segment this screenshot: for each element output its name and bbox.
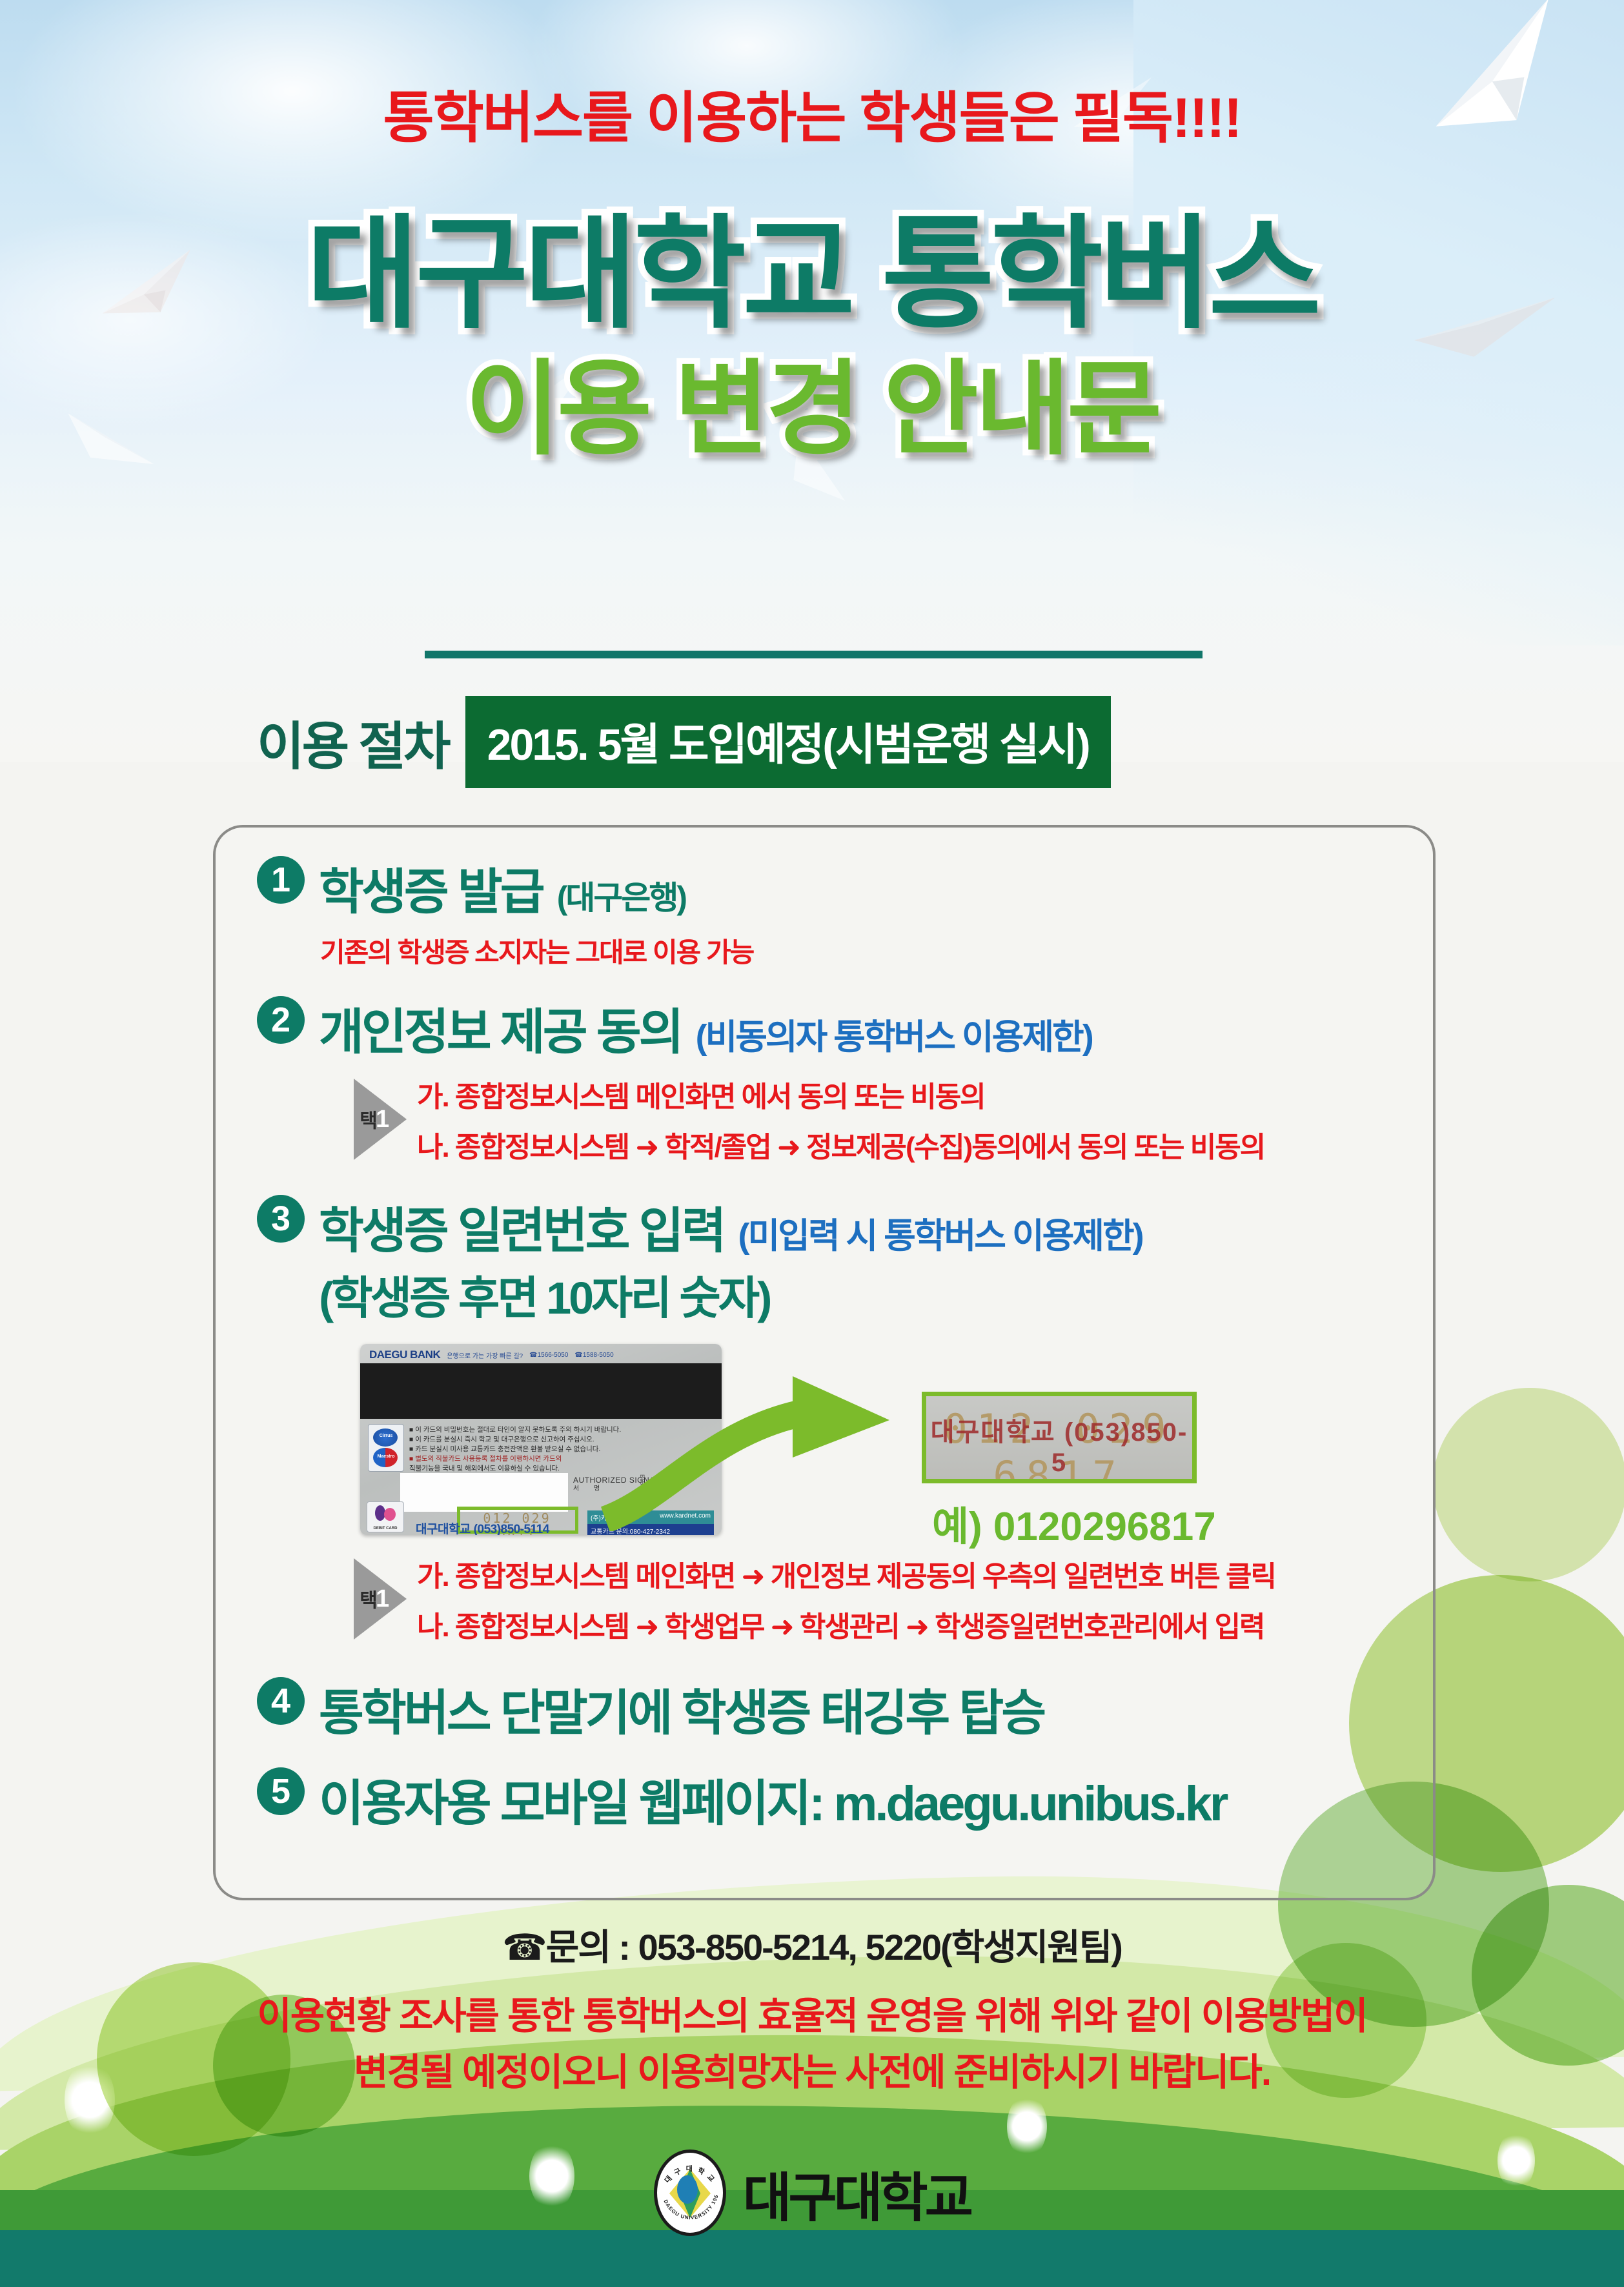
procedure-header: 이용 절차 2015. 5월 도입예정(시범운행 실시) (257, 696, 1111, 788)
footer-notice: 이용현황 조사를 통한 통학버스의 효율적 운영을 위해 위와 같이 이용방법이… (0, 1988, 1624, 2100)
steps-list: 1 학생증 발급 (대구은행) 기존의 학생증 소지자는 그대로 이용 가능 2… (257, 852, 1419, 1841)
cirrus-label: Cirrus (369, 1434, 403, 1438)
choose-option: 나. 종합정보시스템 ➜ 학적/졸업 ➜ 정보제공(수집)동의에서 동의 또는 … (417, 1124, 1264, 1165)
bank-phone-1: ☎1566-5050 (529, 1352, 568, 1359)
step-subtitle: (학생증 후면 10자리 숫자) (319, 1262, 1419, 1327)
step-1: 1 학생증 발급 (대구은행) 기존의 학생증 소지자는 그대로 이용 가능 (257, 852, 1419, 970)
university-seal-icon: 대 구 대 학 교 DAEGU UNIVERSITY 1956 (654, 2150, 726, 2236)
step-note: (대구은행) (557, 872, 685, 919)
bank-tagline: 은행으로 가는 가장 빠른 길? (447, 1350, 523, 1360)
step-note: (미입력 시 통학버스 이용제한) (738, 1207, 1142, 1258)
signature-panel (400, 1473, 568, 1512)
step-title: 통학버스 단말기에 학생증 태깅후 탑승 (319, 1673, 1044, 1744)
choose-one-group: 택 1 가. 종합정보시스템 메인화면 ➜ 개인정보 제공동의 우측의 일련번호… (354, 1553, 1419, 1645)
university-name: 대구대학교 (743, 2155, 970, 2231)
step-3: 3 학생증 일련번호 입력 (미입력 시 통학버스 이용제한) (학생증 후면 … (257, 1191, 1419, 1645)
poster-root: 통학버스를 이용하는 학생들은 필독!!!! 대구대학교 통학버스 이용 변경 … (0, 0, 1624, 2287)
page-title: 대구대학교 통학버스 이용 변경 안내문 (0, 213, 1624, 461)
watercolor-blob (1433, 1388, 1624, 1581)
serial-zoom-callout: 012 029 6817 대구대학교 (053)850-5 (922, 1392, 1197, 1483)
step-4: 4 통학버스 단말기에 학생증 태깅후 탑승 (257, 1673, 1419, 1744)
seal-bottom-text: DAEGU UNIVERSITY 1956 (654, 2150, 720, 2221)
choose-one-group: 택 1 가. 종합정보시스템 메인화면 에서 동의 또는 비동의 나. 종합정보… (354, 1073, 1419, 1165)
notice-line-2: 변경될 예정이오니 이용희망자는 사전에 준비하시기 바랍니다. (0, 2044, 1624, 2100)
choose-option: 가. 종합정보시스템 메인화면 에서 동의 또는 비동의 (417, 1073, 1264, 1115)
step-title: 이용자용 모바일 웹페이지: m.daegu.unibus.kr (319, 1764, 1226, 1835)
title-line-2: 이용 변경 안내문 (0, 358, 1624, 461)
debit-card-logo-icon: DEBIT CARD (367, 1501, 404, 1532)
contact-line: ☎문의 : 053-850-5214, 5220(학생지원팀) (0, 1918, 1624, 1971)
seal-text-icon: 대 구 대 학 교 DAEGU UNIVERSITY 1956 (654, 2150, 726, 2236)
choose-count: 1 (376, 1106, 389, 1133)
student-card-figure: DAEGU BANK 은행으로 가는 가장 빠른 길? ☎1566-5050 ☎… (360, 1344, 1303, 1538)
step-title: 개인정보 제공 동의 (319, 992, 682, 1063)
notice-line-1: 이용현황 조사를 통한 통학버스의 효율적 운영을 위해 위와 같이 이용방법이 (0, 1988, 1624, 2044)
university-logo-block: 대 구 대 학 교 DAEGU UNIVERSITY 1956 대구대학교 (0, 2150, 1624, 2236)
choose-option: 나. 종합정보시스템 ➜ 학생업무 ➜ 학생관리 ➜ 학생증일련번호관리에서 입… (417, 1603, 1275, 1645)
footer-bar (0, 2230, 1624, 2287)
serial-example-text: 예) 0120296817 (932, 1494, 1216, 1552)
curved-arrow-icon (586, 1337, 948, 1531)
choose-label: 택 (356, 1110, 376, 1128)
svg-text:DAEGU UNIVERSITY 1956: DAEGU UNIVERSITY 1956 (654, 2150, 720, 2221)
step-number-badge: 4 (257, 1677, 305, 1725)
step-number-badge: 2 (257, 996, 305, 1044)
step-5: 5 이용자용 모바일 웹페이지: m.daegu.unibus.kr (257, 1764, 1419, 1835)
procedure-label: 이용 절차 (257, 705, 449, 780)
choose-one-marker: 택 1 (354, 1079, 407, 1160)
alert-text: 통학버스를 이용하는 학생들은 필독!!!! (0, 72, 1624, 153)
step-title: 학생증 발급 (319, 852, 543, 923)
step-title: 학생증 일련번호 입력 (319, 1191, 724, 1262)
maestro-label: Maestro (369, 1454, 403, 1459)
choose-count: 1 (376, 1585, 389, 1613)
choose-option: 가. 종합정보시스템 메인화면 ➜ 개인정보 제공동의 우측의 일련번호 버튼 … (417, 1553, 1275, 1594)
choose-label: 택 (356, 1590, 376, 1608)
seal-top-text: 대 구 대 학 교 (662, 2164, 716, 2184)
title-line-1: 대구대학교 통학버스 (0, 213, 1624, 336)
alert-banner: 통학버스를 이용하는 학생들은 필독!!!! (0, 72, 1624, 153)
debit-label: DEBIT CARD (367, 1527, 403, 1530)
glow-dot (1007, 2095, 1047, 2158)
step-2: 2 개인정보 제공 동의 (비동의자 통학버스 이용제한) 택 1 가. 종합정… (257, 992, 1419, 1165)
step-number-badge: 5 (257, 1767, 305, 1815)
step-subnote: 기존의 학생증 소지자는 그대로 이용 가능 (320, 931, 1419, 970)
choose-one-marker: 택 1 (354, 1558, 407, 1640)
serial-zoom-undertext: 대구대학교 (053)850-5 (926, 1411, 1192, 1478)
step-number-badge: 1 (257, 856, 305, 904)
title-divider (425, 651, 1203, 658)
step-number-badge: 3 (257, 1195, 305, 1243)
university-phone-on-card: 대구대학교 (053)850-5114 (416, 1520, 549, 1535)
procedure-badge: 2015. 5월 도입예정(시범운행 실시) (465, 696, 1111, 788)
svg-text:대 구 대 학 교: 대 구 대 학 교 (662, 2164, 716, 2184)
cirrus-maestro-logo-icon: Cirrus Maestro (368, 1424, 404, 1472)
bank-name: DAEGU BANK (369, 1348, 440, 1361)
step-note: (비동의자 통학버스 이용제한) (696, 1008, 1092, 1059)
